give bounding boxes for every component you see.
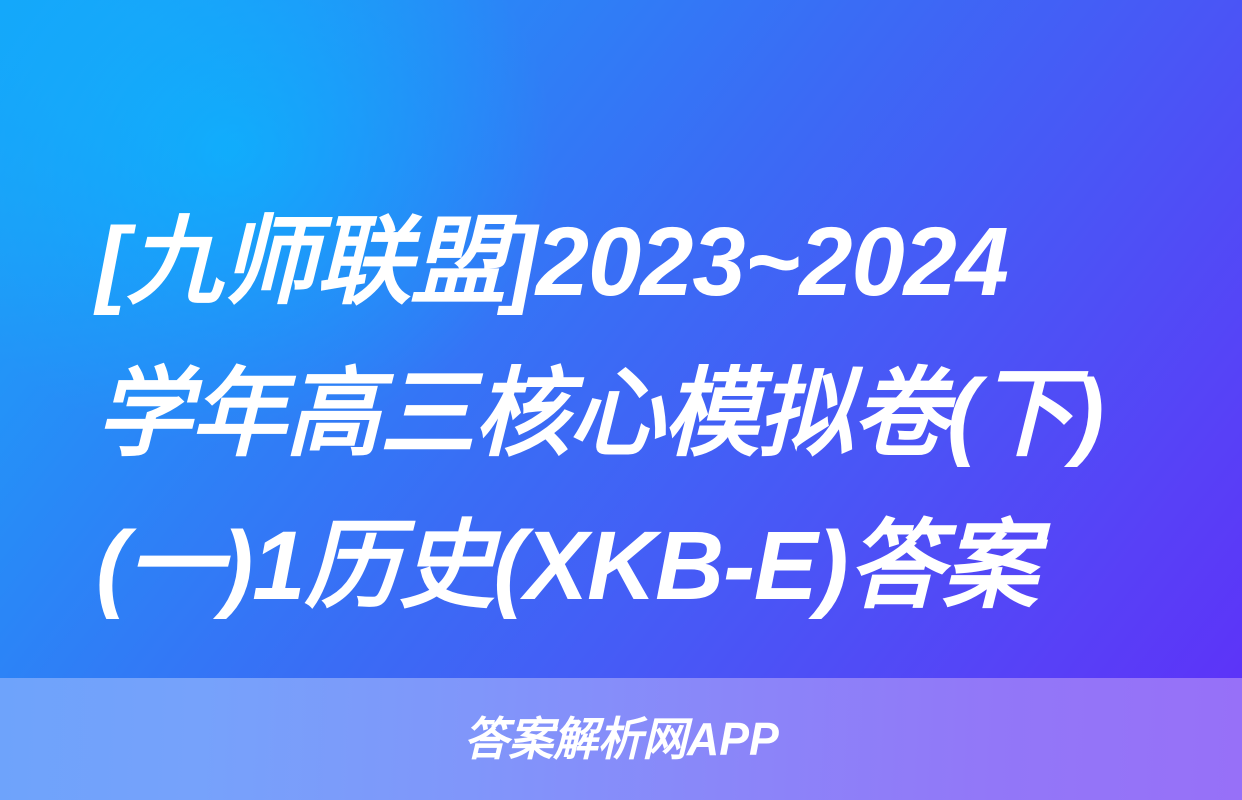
app-promo-banner-label: 答案解析网APP — [464, 713, 779, 765]
answer-cover-card: [九师联盟]2023~2024 学年高三核心模拟卷(下) (一)1历史(XKB-… — [0, 0, 1242, 800]
title-line-3: (一)1历史(XKB-E)答案 — [96, 490, 1140, 642]
title-line-1: [九师联盟]2023~2024 — [96, 186, 1140, 338]
app-promo-banner: 答案解析网APP — [0, 678, 1242, 800]
title-line-2: 学年高三核心模拟卷(下) — [96, 338, 1140, 490]
title-block: [九师联盟]2023~2024 学年高三核心模拟卷(下) (一)1历史(XKB-… — [96, 186, 1156, 642]
